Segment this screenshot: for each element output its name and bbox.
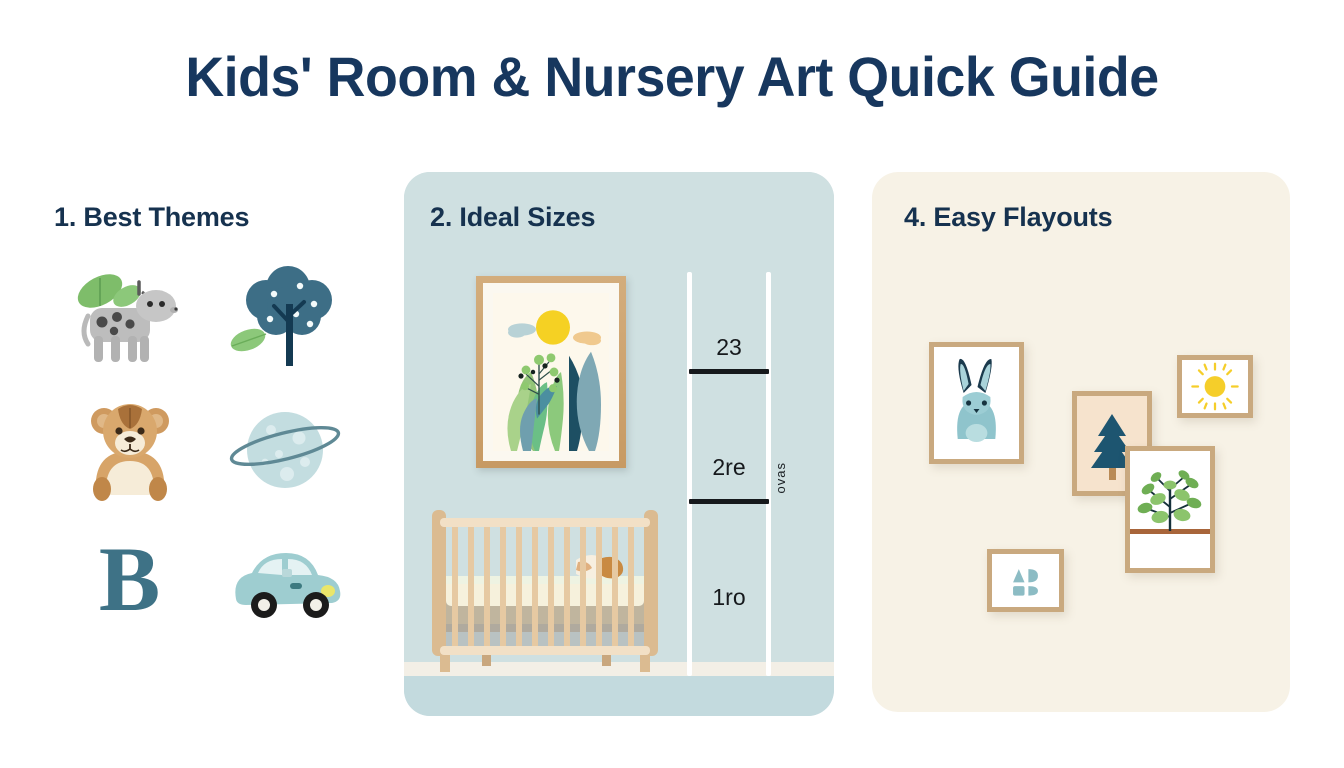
theme-item-tree[interactable] bbox=[207, 254, 362, 384]
page-title: Kids' Room & Nursery Art Quick Guide bbox=[27, 44, 1317, 109]
spotted-animal-icon bbox=[70, 264, 190, 374]
ruler-rung-2 bbox=[689, 499, 769, 504]
panel-ideal-sizes: 2. Ideal Sizes bbox=[404, 172, 834, 716]
theme-item-letter-b[interactable]: B bbox=[52, 514, 207, 644]
art-mat bbox=[483, 283, 619, 461]
panel-2-heading: 2. Ideal Sizes bbox=[430, 202, 595, 233]
ruler-label-3: 1ro bbox=[687, 584, 771, 611]
panel-best-themes: 1. Best Themes bbox=[34, 172, 376, 716]
frame-bunny-canvas bbox=[934, 347, 1019, 459]
theme-item-planet[interactable] bbox=[207, 384, 362, 514]
art-canvas bbox=[493, 293, 609, 451]
frame-sun[interactable] bbox=[1177, 355, 1253, 418]
frame-shapes[interactable] bbox=[987, 549, 1064, 612]
ruler-rung-1 bbox=[689, 369, 769, 374]
tree-icon bbox=[226, 264, 344, 374]
panel-easy-layouts: 4. Easy Flayouts bbox=[872, 172, 1290, 712]
letter-b-icon: B bbox=[99, 533, 160, 625]
car-icon bbox=[224, 533, 346, 625]
panel-1-heading: 1. Best Themes bbox=[54, 202, 249, 233]
guide-infographic: Kids' Room & Nursery Art Quick Guide 1. … bbox=[0, 0, 1344, 768]
theme-item-car[interactable] bbox=[207, 514, 362, 644]
frame-plant-canvas bbox=[1130, 451, 1210, 568]
panel-3-heading: 4. Easy Flayouts bbox=[904, 202, 1112, 233]
theme-item-teddy-bear[interactable] bbox=[52, 384, 207, 514]
frame-bunny[interactable] bbox=[929, 342, 1024, 464]
ruler-label-1: 23 bbox=[687, 334, 771, 361]
frame-plant[interactable] bbox=[1125, 446, 1215, 573]
planet-icon bbox=[227, 396, 343, 502]
wall-art-frame[interactable] bbox=[476, 276, 626, 468]
crib bbox=[426, 504, 664, 672]
frame-shapes-canvas bbox=[992, 554, 1059, 607]
theme-icon-grid: B bbox=[52, 254, 362, 644]
ruler-vertical-label: ovas bbox=[773, 462, 788, 493]
teddy-bear-icon bbox=[80, 395, 180, 503]
ruler-label-2: 2re bbox=[687, 454, 771, 481]
frame-sun-canvas bbox=[1182, 360, 1248, 413]
size-ruler: 23 2re 1ro ovas bbox=[687, 272, 771, 676]
nursery-floor bbox=[404, 676, 834, 716]
theme-item-spotted-animal[interactable] bbox=[52, 254, 207, 384]
